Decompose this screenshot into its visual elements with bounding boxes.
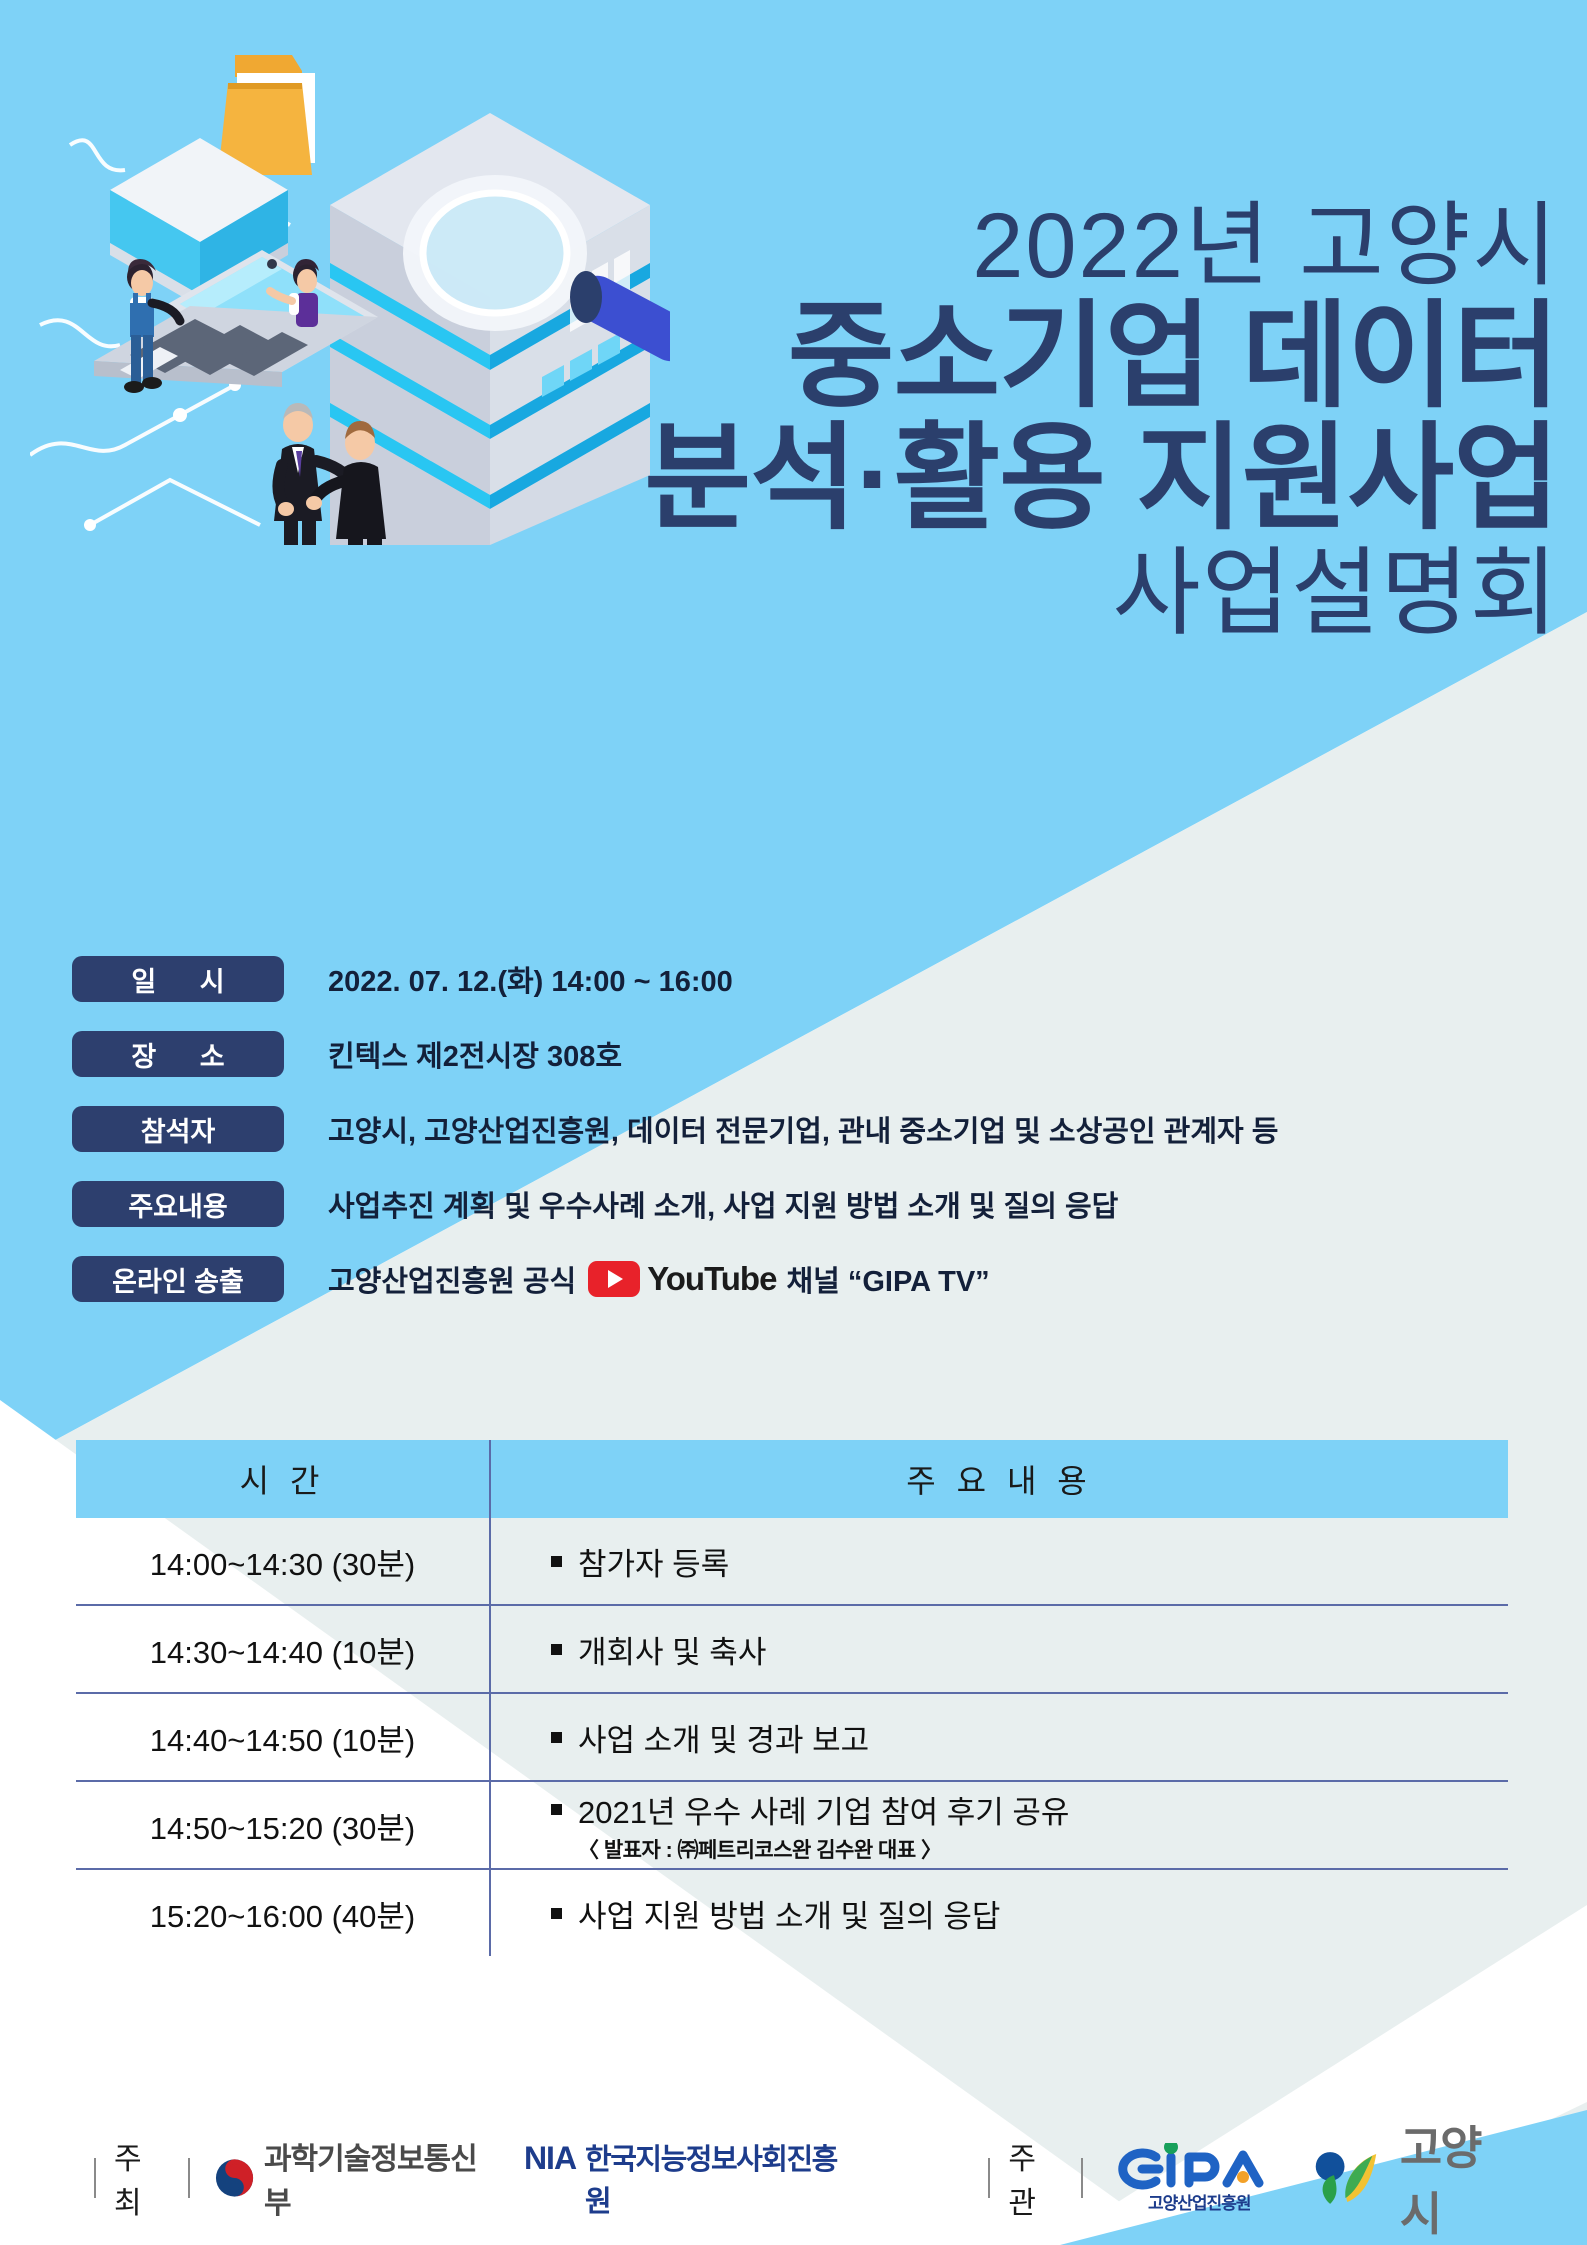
title-line-3: 분석·활용 지원사업: [449, 420, 1559, 536]
info-row-venue: 장 소 킨텍스 제2전시장 308호: [72, 1027, 1532, 1081]
organizer-group: 주관 고양산업진흥원: [970, 2112, 1516, 2244]
schedule-topic-text: 사업 소개 및 경과 보고: [578, 1715, 869, 1760]
schedule-header-row: 시 간 주 요 내 용: [76, 1440, 1508, 1518]
title-line-1: 2022년 고양시: [449, 200, 1559, 292]
info-label-broadcast: 온라인 송출: [72, 1256, 284, 1302]
bullet-icon: [551, 1644, 562, 1655]
divider-right: [188, 2158, 190, 2198]
title-line-2: 중소기업 데이터: [449, 298, 1559, 414]
bullet-icon: [551, 1556, 562, 1567]
poster-root: 2022년 고양시 중소기업 데이터 분석·활용 지원사업 사업설명회 일 시 …: [0, 0, 1587, 2245]
schedule-topic: 2021년 우수 사례 기업 참여 후기 공유: [551, 1787, 1508, 1832]
host-label: 주최: [114, 2134, 170, 2222]
schedule-topic: 사업 지원 방법 소개 및 질의 응답: [551, 1891, 1508, 1936]
info-label-venue: 장 소: [72, 1031, 284, 1077]
youtube-logo: YouTube: [588, 1260, 776, 1298]
schedule-topic-cell: 개회사 및 축사: [491, 1606, 1508, 1692]
schedule-header-topic: 주 요 내 용: [491, 1440, 1508, 1518]
goyang-city-logo: 고양시: [1309, 2112, 1516, 2244]
info-value-broadcast: 고양산업진흥원 공식 YouTube 채널 “GIPA TV”: [328, 1258, 990, 1300]
schedule-topic: 참가자 등록: [551, 1539, 1508, 1584]
schedule-topic-cell: 2021년 우수 사례 기업 참여 후기 공유 〈 발표자 : ㈜페트리코스완 …: [491, 1782, 1508, 1868]
host-org-logos: 과학기술정보통신부 NIA 한국지능정보사회진흥원: [214, 2134, 855, 2222]
taegeuk-icon: [214, 2157, 255, 2199]
event-info-list: 일 시 2022. 07. 12.(화) 14:00 ~ 16:00 장 소 킨…: [72, 952, 1532, 1327]
host-group: 주최 과학기술정보통신부 NIA 한국지능정보사회진흥원: [76, 2134, 855, 2222]
schedule-topic-text: 사업 지원 방법 소개 및 질의 응답: [578, 1891, 1000, 1936]
schedule-speaker-note: 〈 발표자 : ㈜페트리코스완 김수완 대표 〉: [578, 1834, 1508, 1864]
info-value-datetime: 2022. 07. 12.(화) 14:00 ~ 16:00: [328, 958, 733, 1000]
info-label-datetime: 일 시: [72, 956, 284, 1002]
schedule-time: 14:40~14:50 (10분): [76, 1694, 491, 1780]
broadcast-text-post: 채널 “GIPA TV”: [786, 1258, 989, 1300]
table-row: 14:00~14:30 (30분) 참가자 등록: [76, 1518, 1508, 1606]
divider-right-2: [1081, 2158, 1083, 2198]
nia-abbr: NIA: [524, 2140, 576, 2177]
table-row: 14:40~14:50 (10분) 사업 소개 및 경과 보고: [76, 1694, 1508, 1782]
youtube-play-icon: [588, 1261, 640, 1297]
schedule-topic-cell: 참가자 등록: [491, 1518, 1508, 1604]
schedule-time: 14:30~14:40 (10분): [76, 1606, 491, 1692]
schedule-header-time: 시 간: [76, 1440, 491, 1518]
info-row-agenda: 주요내용 사업추진 계획 및 우수사례 소개, 사업 지원 방법 소개 및 질의…: [72, 1177, 1532, 1231]
schedule-time: 15:20~16:00 (40분): [76, 1870, 491, 1956]
schedule-topic: 개회사 및 축사: [551, 1627, 1508, 1672]
gipa-name: 고양산업진흥원: [1148, 2189, 1250, 2214]
divider-left-2: [988, 2158, 990, 2198]
goyang-name: 고양시: [1400, 2112, 1516, 2244]
table-row: 15:20~16:00 (40분) 사업 지원 방법 소개 및 질의 응답: [76, 1870, 1508, 1956]
broadcast-text-pre: 고양산업진흥원 공식: [328, 1258, 576, 1300]
bullet-icon: [551, 1804, 562, 1815]
info-row-broadcast: 온라인 송출 고양산업진흥원 공식 YouTube 채널 “GIPA TV”: [72, 1252, 1532, 1306]
info-label-agenda: 주요내용: [72, 1181, 284, 1227]
poster-title: 2022년 고양시 중소기업 데이터 분석·활용 지원사업 사업설명회: [449, 200, 1559, 642]
bullet-icon: [551, 1908, 562, 1919]
gipa-mark-icon: [1109, 2143, 1289, 2195]
youtube-wordmark: YouTube: [647, 1260, 776, 1298]
table-row: 14:50~15:20 (30분) 2021년 우수 사례 기업 참여 후기 공…: [76, 1782, 1508, 1870]
schedule-topic-text: 참가자 등록: [578, 1539, 729, 1584]
title-line-4: 사업설명회: [449, 546, 1559, 642]
organizer-label: 주관: [1008, 2134, 1063, 2222]
bullet-icon: [551, 1732, 562, 1743]
info-label-attendees: 참석자: [72, 1106, 284, 1152]
nia-logo: NIA 한국지능정보사회진흥원: [524, 2136, 855, 2220]
msit-name: 과학기술정보통신부: [264, 2134, 498, 2222]
nia-name: 한국지능정보사회진흥원: [585, 2136, 855, 2220]
schedule-topic: 사업 소개 및 경과 보고: [551, 1715, 1508, 1760]
schedule-topic-cell: 사업 소개 및 경과 보고: [491, 1694, 1508, 1780]
info-value-agenda: 사업추진 계획 및 우수사례 소개, 사업 지원 방법 소개 및 질의 응답: [328, 1183, 1118, 1225]
goyang-leaf-icon: [1309, 2147, 1392, 2209]
schedule-topic-text: 개회사 및 축사: [578, 1627, 766, 1672]
schedule-time: 14:50~15:20 (30분): [76, 1782, 491, 1868]
divider-left: [94, 2158, 96, 2198]
gipa-logo: 고양산업진흥원: [1109, 2143, 1289, 2214]
msit-logo: 과학기술정보통신부: [214, 2134, 498, 2222]
info-value-attendees: 고양시, 고양산업진흥원, 데이터 전문기업, 관내 중소기업 및 소상공인 관…: [328, 1108, 1278, 1150]
schedule-topic-cell: 사업 지원 방법 소개 및 질의 응답: [491, 1870, 1508, 1956]
table-row: 14:30~14:40 (10분) 개회사 및 축사: [76, 1606, 1508, 1694]
schedule-table: 시 간 주 요 내 용 14:00~14:30 (30분) 참가자 등록 14:…: [76, 1440, 1508, 1956]
footer-sponsors: 주최 과학기술정보통신부 NIA 한국지능정보사회진흥원: [76, 2112, 1516, 2244]
schedule-topic-text: 2021년 우수 사례 기업 참여 후기 공유: [578, 1787, 1069, 1832]
schedule-time: 14:00~14:30 (30분): [76, 1518, 491, 1604]
info-value-venue: 킨텍스 제2전시장 308호: [328, 1033, 622, 1075]
info-row-attendees: 참석자 고양시, 고양산업진흥원, 데이터 전문기업, 관내 중소기업 및 소상…: [72, 1102, 1532, 1156]
info-row-datetime: 일 시 2022. 07. 12.(화) 14:00 ~ 16:00: [72, 952, 1532, 1006]
